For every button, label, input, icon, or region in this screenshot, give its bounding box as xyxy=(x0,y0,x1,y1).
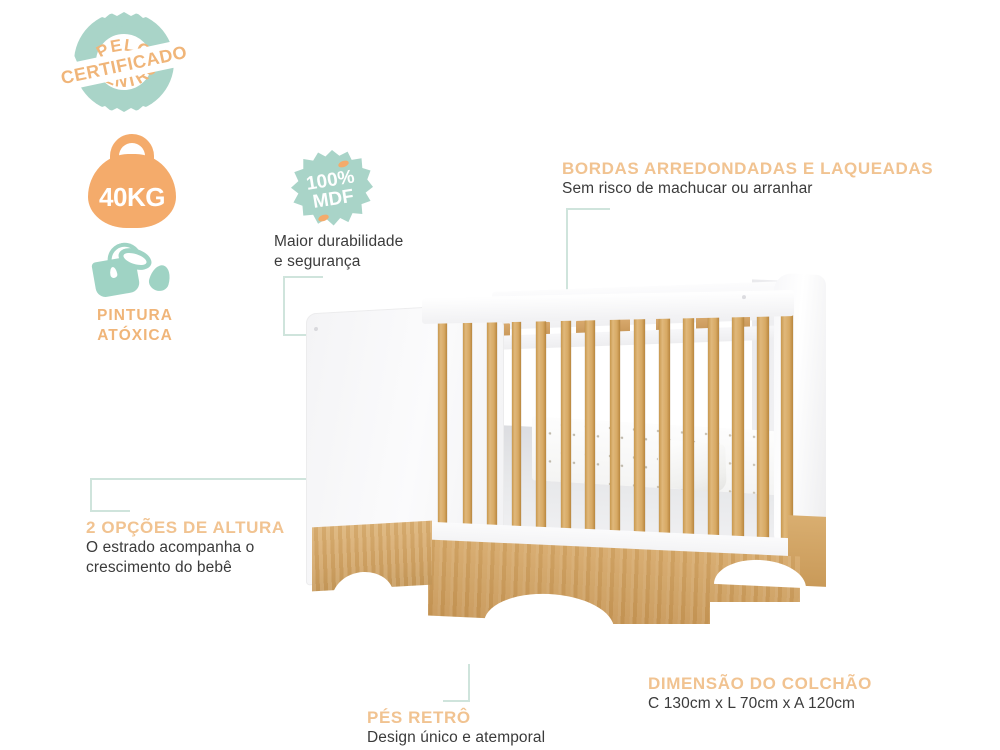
callout-bordas-subtitle: Sem risco de machucar ou arranhar xyxy=(562,179,933,199)
crib-slat xyxy=(536,308,546,549)
crib-slat xyxy=(708,304,720,553)
crib-slat xyxy=(610,306,621,550)
crib-slat xyxy=(757,303,769,554)
callout-altura-subtitle: O estrado acompanha o crescimento do beb… xyxy=(86,538,285,578)
crib-slat xyxy=(561,307,571,549)
crib-slat xyxy=(463,309,472,546)
crib-screw-icon xyxy=(314,327,318,331)
mdf-badge-icon: 100% MDF xyxy=(291,150,373,232)
crib-screw-icon xyxy=(742,295,746,299)
connector-bordas-top xyxy=(566,208,610,210)
callout-colchao-subtitle: C 130cm x L 70cm x A 120cm xyxy=(648,694,872,714)
connector-pes-bottom xyxy=(443,700,470,702)
crib-slat xyxy=(585,307,595,550)
callout-bordas-arredondadas: BORDAS ARREDONDADAS E LAQUEADAS Sem risc… xyxy=(562,158,933,199)
callout-dimensao-do-colchao: DIMENSÃO DO COLCHÃO C 130cm x L 70cm x A… xyxy=(648,673,872,714)
crib-illustration xyxy=(306,272,826,642)
connector-altura-vertical xyxy=(90,478,92,512)
paint-label: PINTURA ATÓXICA xyxy=(80,306,190,346)
callout-mdf: Maior durabilidade e segurança xyxy=(274,232,403,272)
weight-value-label: 40KG xyxy=(99,182,165,213)
crib-slat xyxy=(634,305,645,550)
paint-bucket-icon xyxy=(88,243,174,303)
crib-slat xyxy=(732,303,744,553)
certificate-seal-icon: PELO IMENTRO CERTIFICADO xyxy=(63,4,185,122)
paint-drop-large-icon xyxy=(147,263,173,294)
callout-colchao-title: DIMENSÃO DO COLCHÃO xyxy=(648,673,872,694)
infographic-canvas: PELO IMENTRO CERTIFICADO 40KG PINTURA AT… xyxy=(0,0,1000,750)
crib-base-mask xyxy=(710,602,850,662)
mdf-badge-text: 100% MDF xyxy=(285,144,379,238)
connector-mdf-vertical xyxy=(283,276,285,336)
kettlebell-body: 40KG xyxy=(88,154,176,228)
callout-bordas-title: BORDAS ARREDONDADAS E LAQUEADAS xyxy=(562,158,933,179)
connector-altura-top xyxy=(90,478,308,480)
crib-slat xyxy=(659,305,670,551)
crib-slat xyxy=(683,304,694,551)
callout-mdf-subtitle: Maior durabilidade e segurança xyxy=(274,232,403,272)
crib-base-mask xyxy=(296,610,426,670)
callout-altura-title: 2 OPÇÕES DE ALTURA xyxy=(86,517,285,538)
connector-altura-bottom xyxy=(90,510,130,512)
callout-pes-subtitle: Design único e atemporal xyxy=(367,728,545,748)
callout-pes-title: PÉS RETRÔ xyxy=(367,707,545,728)
crib-slat xyxy=(487,309,497,547)
callout-opcoes-de-altura: 2 OPÇÕES DE ALTURA O estrado acompanha o… xyxy=(86,517,285,578)
crib-slat xyxy=(438,310,447,546)
kettlebell-icon: 40KG xyxy=(86,134,178,228)
callout-pes-retro: PÉS RETRÔ Design único e atemporal xyxy=(367,707,545,748)
crib-slat xyxy=(512,308,522,547)
